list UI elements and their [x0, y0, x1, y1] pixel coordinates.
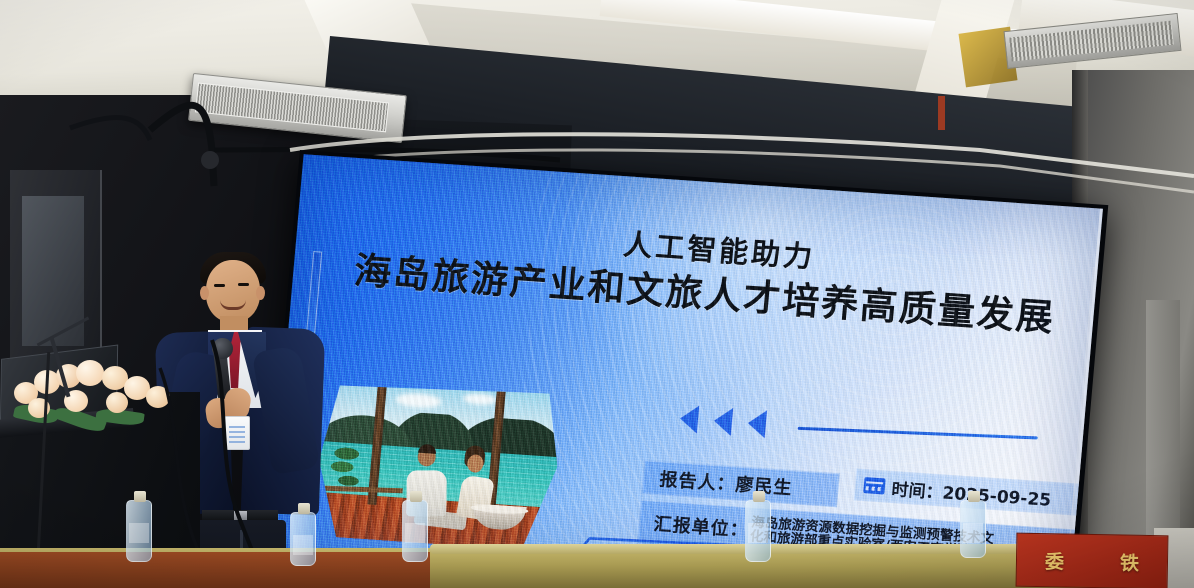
presenter-eye-right [238, 283, 249, 286]
banner-char-1: 委 [1045, 547, 1064, 574]
water-bottle [960, 500, 986, 558]
slide-speaker-text: 报告人：廖民生 [659, 465, 794, 500]
water-bottle [290, 512, 316, 566]
front-table-left-section [0, 552, 430, 588]
water-bottle [126, 500, 152, 562]
slide-speaker-pill: 报告人：廖民生 [641, 460, 840, 507]
calendar-icon [863, 477, 885, 494]
presenter-ear-left [200, 286, 209, 300]
chevron-trailing-line [798, 427, 1038, 440]
water-bottle [402, 500, 428, 562]
flower-rose [76, 360, 104, 386]
chevron-left-icon [679, 404, 699, 433]
right-wall-strip [1146, 300, 1180, 540]
water-bottle [745, 500, 771, 562]
conference-photo-scene: 人工智能助力 海岛旅游产业和文旅人才培养高质量发展 [0, 0, 1194, 588]
slide-title-block: 人工智能助力 海岛旅游产业和文旅人才培养高质量发展 [328, 209, 1085, 344]
slide-chevron-decoration [678, 399, 1041, 463]
banner-char-2: 铁 [1120, 548, 1139, 575]
presenter-eye-left [214, 284, 225, 287]
chevron-left-icon [747, 409, 767, 438]
presenter-head [206, 260, 260, 322]
red-banner: 委 铁 [1016, 533, 1169, 588]
slide-organization-label: 汇报单位： [653, 510, 750, 542]
chevron-left-icon [713, 407, 733, 436]
slide-photo-tropical-island [312, 378, 563, 552]
presenter-ear-right [256, 286, 265, 300]
